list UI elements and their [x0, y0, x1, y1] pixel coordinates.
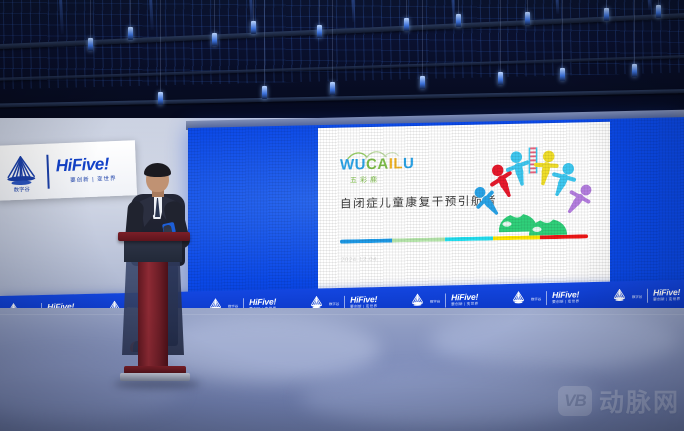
led-banner-logo-unit: 数字谷HiFive!要创新 | 变世界 [404, 290, 505, 309]
led-banner-divider [546, 291, 547, 305]
light-rigging-wire [406, 0, 407, 18]
led-banner-logo-unit: 数字谷HiFive!要创新 | 变世界 [505, 288, 606, 307]
ceiling-beam [648, 0, 652, 10]
globe-shape-1 [529, 214, 567, 237]
led-banner-headline: HiFive! [249, 297, 276, 307]
stage-light-13 [420, 76, 425, 89]
lectern-top [118, 232, 190, 241]
stage-light-3 [251, 21, 256, 34]
stage-light-14 [498, 72, 503, 85]
screenshot-root: WUCAILU 五彩鹿 自闭症儿童康复干预引航者 2024.12.04 数字谷H… [0, 0, 684, 431]
stage-light-15 [560, 68, 565, 81]
led-banner-headline: HiFive! [552, 290, 579, 300]
light-rigging-wire [214, 0, 215, 33]
color-bar-segment-1 [392, 237, 444, 242]
light-rigging-wire [527, 0, 528, 12]
stage-light-0 [88, 38, 93, 51]
led-banner-headline: HiFive! [451, 292, 478, 302]
ladder-motif-icon [529, 147, 538, 173]
ceiling-beam [556, 0, 560, 14]
light-rigging-wire [332, 0, 333, 82]
light-rigging-wire [422, 0, 423, 76]
floor-light-pool [300, 370, 600, 426]
stage-light-2 [212, 33, 217, 46]
shuziguo-logo-icon: 数字谷 [1, 152, 41, 193]
wucailu-logo: WUCAILU 五彩鹿 [340, 155, 460, 186]
led-banner-tagline: 要创新 | 变世界 [653, 298, 680, 302]
children-around-globe-illustration [474, 138, 592, 237]
led-video-wall: WUCAILU 五彩鹿 自闭症儿童康复干预引航者 2024.12.04 [188, 117, 684, 296]
stage-light-11 [262, 86, 267, 99]
shuziguo-logo-icon [511, 290, 526, 307]
light-rigging-wire [130, 0, 131, 27]
led-banner-logo-cn: 数字谷 [430, 298, 440, 303]
stage-light-9 [656, 5, 661, 18]
stage-light-1 [128, 27, 133, 40]
ceiling-mesh-texture [0, 0, 684, 91]
stage-light-4 [317, 25, 322, 38]
led-banner-logo-cn: 数字谷 [531, 296, 541, 301]
light-rigging-wire [634, 0, 635, 64]
svg-text:数字谷: 数字谷 [13, 184, 30, 193]
stage-light-8 [604, 8, 609, 21]
led-banner-headline: HiFive! [350, 295, 377, 305]
slide-date: 2024.12.04 [341, 257, 377, 264]
presentation-slide: WUCAILU 五彩鹿 自闭症儿童康复干预引航者 2024.12.04 [318, 122, 610, 290]
watermark-text: 动脉网 [599, 383, 680, 419]
stage-light-7 [525, 12, 530, 25]
light-rigging-wire [90, 0, 91, 38]
stage-light-12 [330, 82, 335, 95]
shuziguo-logo-icon [410, 292, 425, 309]
led-banner-divider [445, 293, 446, 307]
presenter-hair [144, 163, 171, 177]
light-rigging-wire [458, 0, 459, 14]
banner-divider [46, 154, 49, 188]
led-banner-divider [647, 288, 648, 302]
light-rigging-wire [606, 0, 607, 8]
color-bar-segment-0 [340, 239, 392, 244]
lectern-front-panel [124, 241, 182, 262]
ceiling-truss [0, 88, 684, 108]
brand-letter-6: U [403, 156, 414, 171]
stage-light-10 [158, 92, 163, 105]
light-rigging-wire [160, 0, 161, 92]
podium-banner: 数字谷 HiFive! 要创新 | 变世界 [0, 140, 137, 201]
led-banner-tagline: 要创新 | 变世界 [552, 300, 579, 304]
light-rigging-wire [562, 0, 563, 68]
light-rigging-wire [264, 0, 265, 86]
led-banner-tagline: 要创新 | 变世界 [451, 302, 478, 306]
publisher-watermark: VB 动脉网 [558, 383, 680, 419]
slide-color-bar [340, 234, 588, 243]
led-banner-logo-cn: 数字谷 [632, 293, 642, 298]
color-bar-segment-2 [445, 236, 493, 241]
shuziguo-logo-icon [612, 287, 627, 304]
watermark-badge: VB [558, 386, 592, 416]
light-rigging-wire [500, 0, 501, 72]
floor-light-pool [430, 310, 680, 370]
stage-light-5 [404, 18, 409, 31]
light-rigging-wire [319, 0, 320, 25]
brand-chinese-name: 五彩鹿 [340, 173, 460, 186]
led-banner-logo-unit: 数字谷HiFive!要创新 | 变世界 [606, 285, 684, 304]
led-banner-headline: HiFive! [653, 288, 680, 298]
brand-swoosh-icon [346, 149, 400, 160]
lectern-side-right [167, 260, 184, 355]
led-banner-logo-cn: 数字谷 [329, 301, 339, 306]
lectern [118, 232, 190, 384]
stage-light-6 [456, 14, 461, 27]
lectern-column [138, 262, 168, 370]
stage-light-16 [632, 64, 637, 77]
lectern-side-left [122, 260, 139, 355]
light-rigging-wire [253, 0, 254, 21]
lectern-base-lower [120, 373, 190, 381]
